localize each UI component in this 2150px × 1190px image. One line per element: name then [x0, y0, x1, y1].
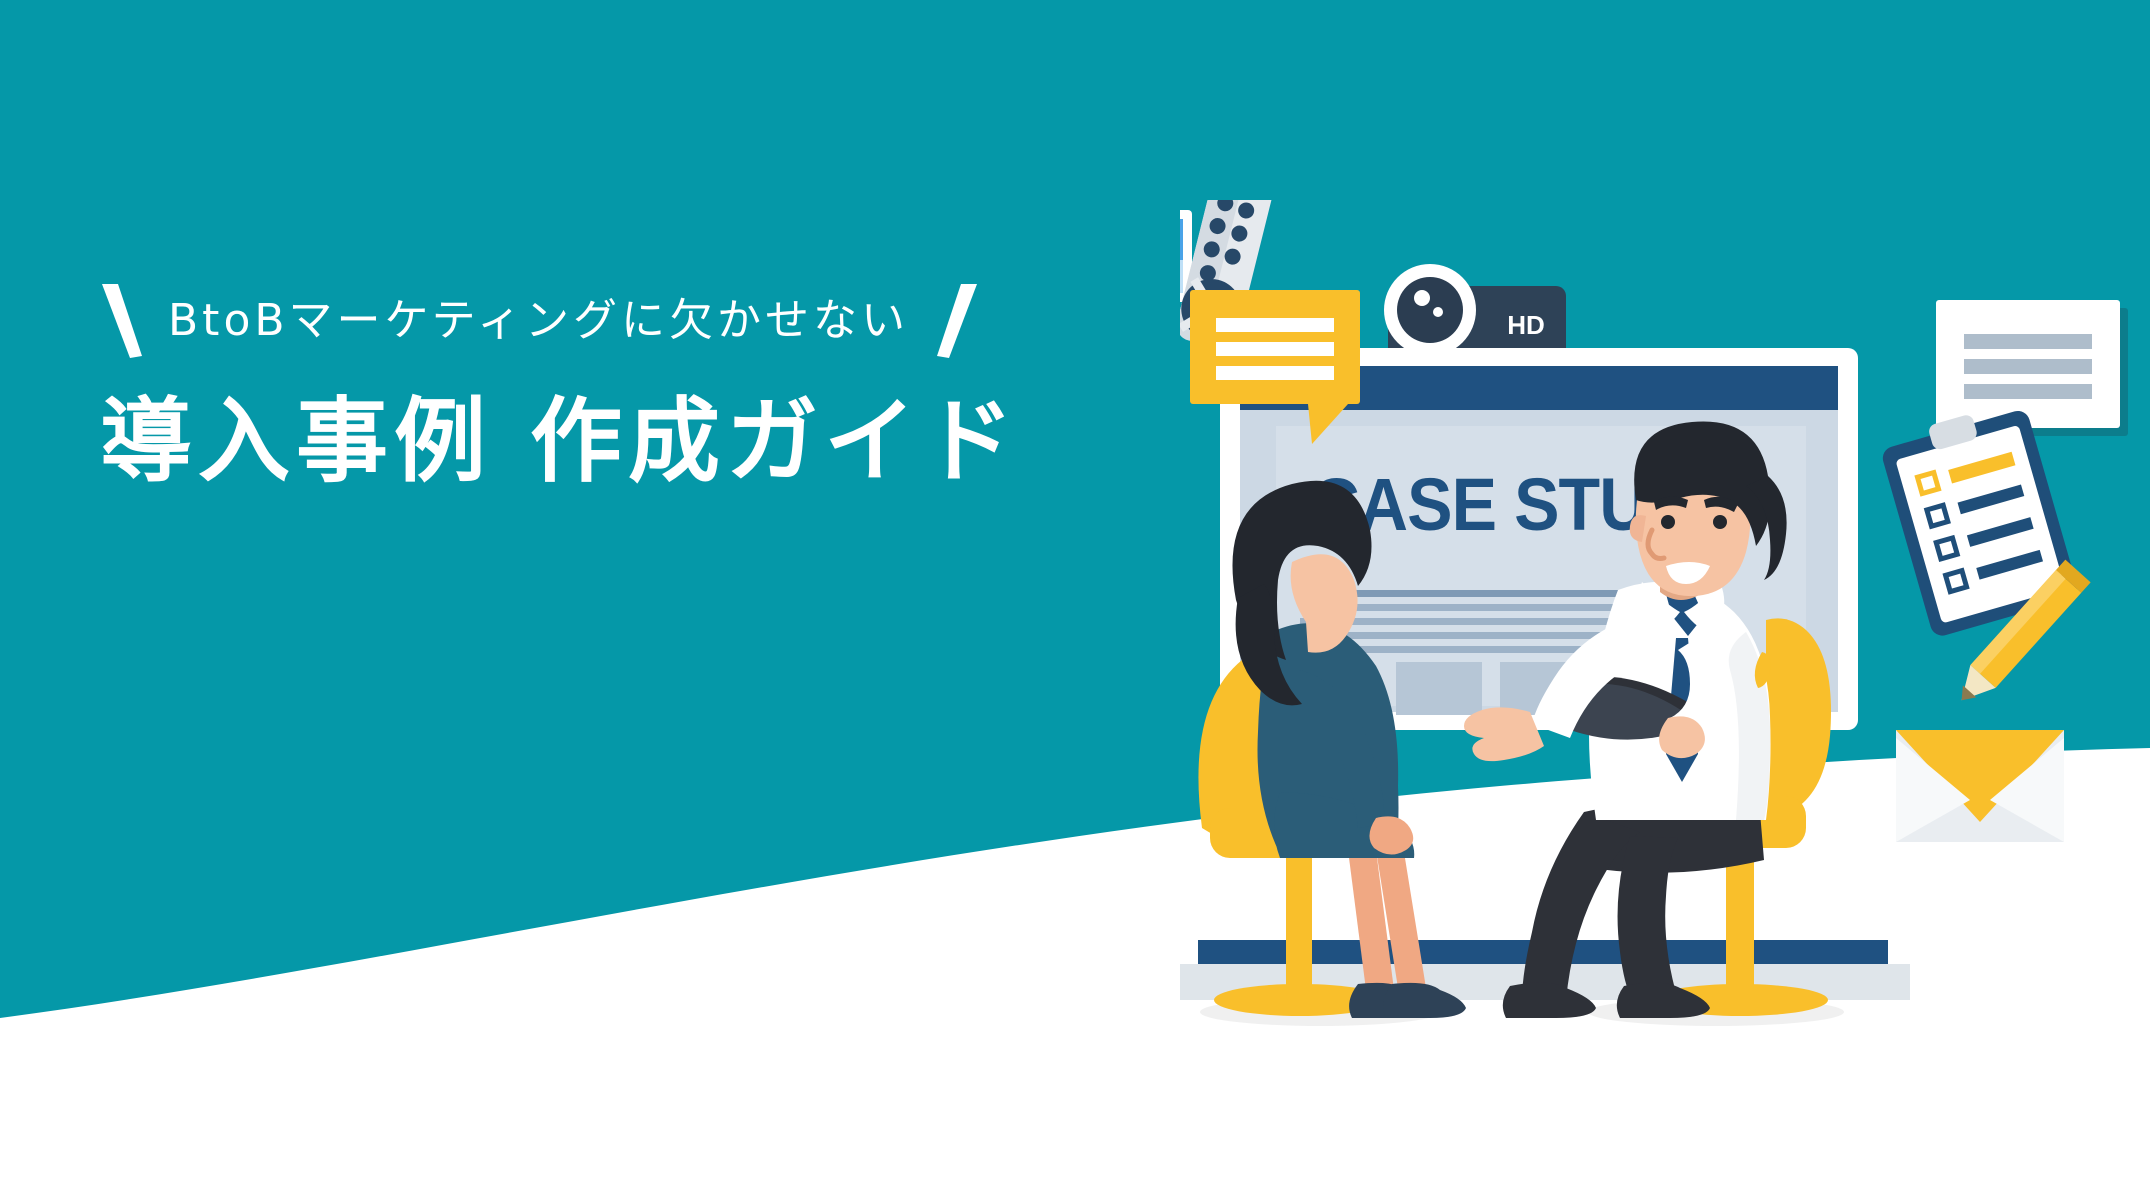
banner-canvas: BtoBマーケティングに欠かせない 導入事例 作成ガイド [0, 0, 2150, 1190]
subtitle-row: BtoBマーケティングに欠かせない [100, 282, 1130, 360]
right-slash-icon [935, 282, 979, 360]
illustration: HD [1180, 200, 2150, 1160]
subtitle-text: BtoBマーケティングに欠かせない [168, 299, 909, 343]
envelope-icon [1896, 730, 2064, 842]
left-slash-icon [100, 282, 144, 360]
camcorder-hd-label: HD [1507, 310, 1545, 340]
page-title: 導入事例 作成ガイド [100, 394, 1130, 491]
headline-block: BtoBマーケティングに欠かせない 導入事例 作成ガイド [100, 282, 1130, 491]
